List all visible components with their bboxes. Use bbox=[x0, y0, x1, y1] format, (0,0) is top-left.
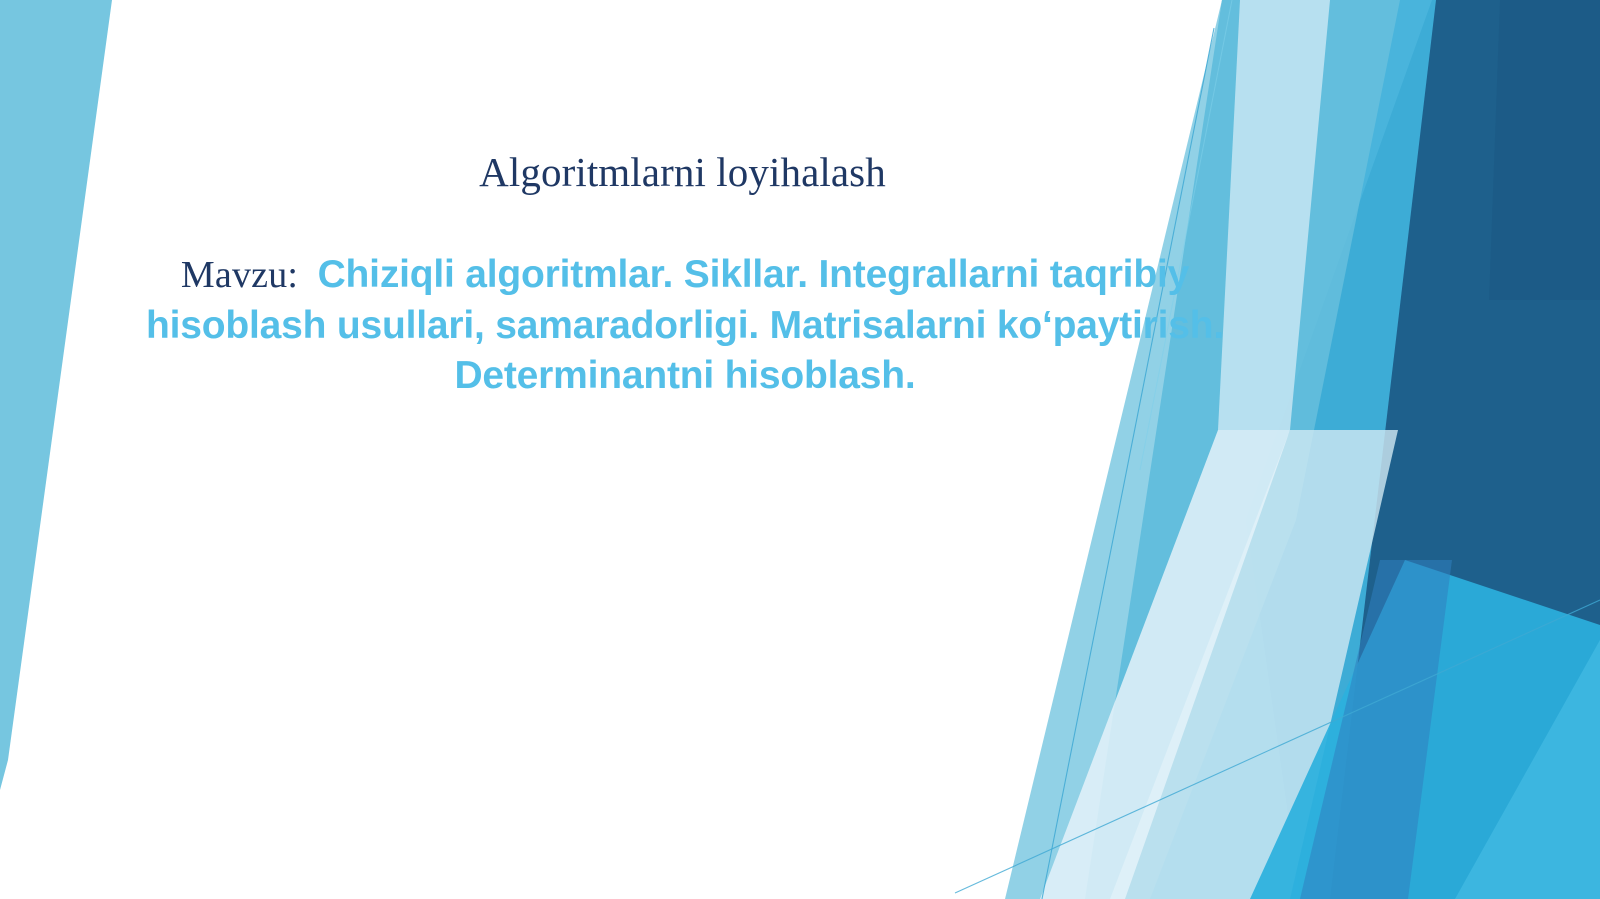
topic-label: Mavzu: bbox=[181, 254, 298, 296]
page-title: Algoritmlarni loyihalash bbox=[150, 148, 1215, 196]
topic-paragraph: Mavzu: Chiziqli algoritmlar. Sikllar. In… bbox=[140, 250, 1230, 402]
topic-label-space bbox=[298, 254, 317, 296]
presentation-slide: Algoritmlarni loyihalash Mavzu: Chiziqli… bbox=[0, 0, 1600, 899]
slide-content: Algoritmlarni loyihalash Mavzu: Chiziqli… bbox=[0, 0, 1600, 899]
